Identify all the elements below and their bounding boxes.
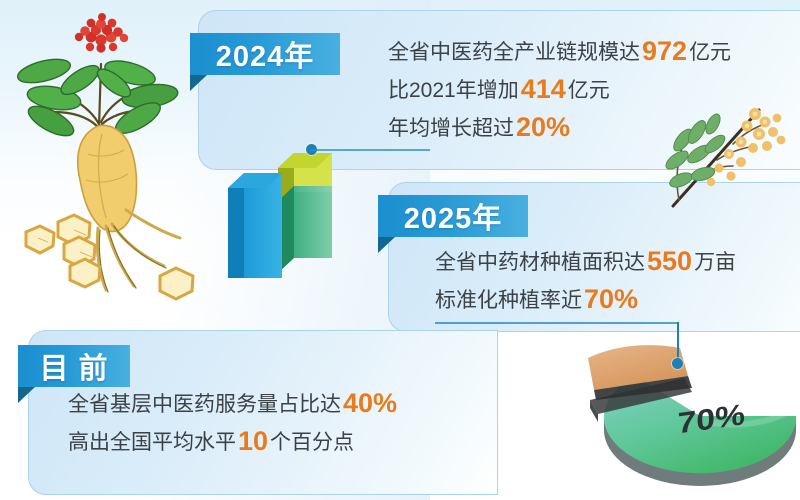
ribbon-tag-current-label: 目 前 [39,345,108,387]
panel-2025-line-2: 标准化种植率近70% [435,281,736,319]
bar-2021-blue [228,173,282,278]
ribbon-tag-2025: 2025年 [378,195,528,237]
stat-value-40pct: 40% [341,388,399,418]
panel-current-line-1: 全省基层中医药服务量占比达40% [68,385,399,423]
ginseng-berries [75,13,128,53]
panel-current-text: 全省基层中医药服务量占比达40% 高出全国平均水平10个百分点 [68,385,399,461]
panel-2024-line-2: 比2021年增加414亿元 [388,71,731,109]
panel-2025-text: 全省中药材种植面积达550万亩 标准化种植率近70% [435,243,736,319]
connector-dot-pie [672,358,683,369]
stat-value-70pct: 70% [582,284,640,314]
connector-line-bar [310,149,430,151]
pie-chart-3d: 70% [588,330,800,490]
connector-line-pie-horizontal [435,322,679,324]
stat-value-550: 550 [645,246,694,276]
ribbon-tag-current: 目 前 [18,345,130,387]
infographic-canvas: 2024年 全省中医药全产业链规模达972亿元 比2021年增加414亿元 年均… [0,0,800,500]
panel-2025-line-1: 全省中药材种植面积达550万亩 [435,243,736,281]
ribbon-fold-2024 [190,75,207,91]
stat-value-414: 414 [519,74,568,104]
stat-value-20pct: 20% [514,112,572,142]
panel-2024-line-1: 全省中医药全产业链规模达972亿元 [388,33,731,71]
ribbon-tag-2024: 2024年 [190,33,340,75]
panel-current-line-2: 高出全国平均水平10个百分点 [68,423,399,461]
bar-2024-green [278,153,332,273]
stat-value-972: 972 [640,36,689,66]
panel-2024-line-3: 年均增长超过20% [388,109,731,147]
stat-value-10: 10 [236,426,270,456]
ginseng-plant-illustration [2,4,202,304]
ribbon-fold-2025 [378,237,395,253]
panel-2024-text: 全省中医药全产业链规模达972亿元 比2021年增加414亿元 年均增长超过20… [388,33,731,147]
ribbon-tag-2024-label: 2024年 [216,33,315,75]
ribbon-tag-2025-label: 2025年 [404,195,503,237]
ribbon-fold-current [18,387,35,403]
bar-chart-3d [228,108,358,278]
